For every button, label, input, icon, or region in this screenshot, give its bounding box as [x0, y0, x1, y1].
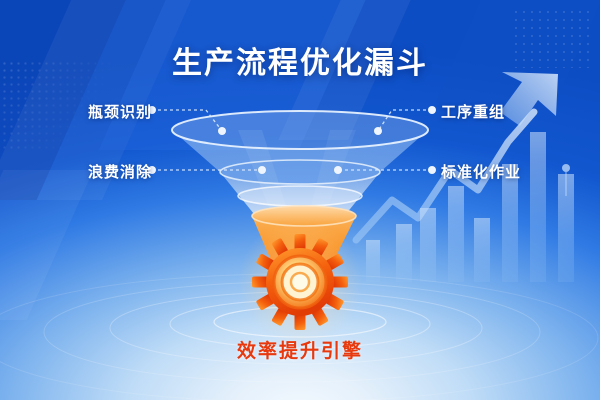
label-standardize: 标准化作业 [441, 161, 521, 182]
engine-caption: 效率提升引擎 [0, 336, 600, 363]
page-title: 生产流程优化漏斗 [0, 38, 600, 82]
conn-bottleneck [152, 110, 222, 131]
conn-reorg [378, 110, 432, 131]
label-waste: 浪费消除 [88, 161, 152, 182]
infographic-canvas: 生产流程优化漏斗 瓶颈识别 浪费消除 工序重组 标准化作业 效率提升引擎 [0, 0, 600, 400]
label-bottleneck: 瓶颈识别 [88, 101, 152, 122]
label-process-reorg: 工序重组 [441, 101, 505, 122]
